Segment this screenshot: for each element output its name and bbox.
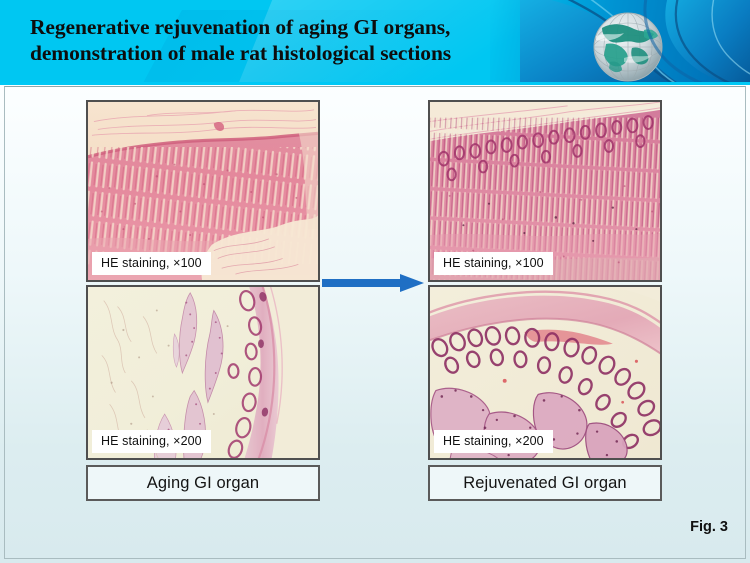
page-title-line-1: Regenerative rejuvenation of aging GI or… (30, 14, 590, 40)
slide-header: Regenerative rejuvenation of aging GI or… (0, 0, 750, 85)
histology-image-aging-x200: HE staining, ×200 (86, 285, 320, 460)
right-arrow-icon (322, 272, 426, 294)
panel-caption-text: Aging GI organ (147, 474, 259, 493)
magnification-label: HE staining, ×100 (92, 252, 211, 276)
page-title: Regenerative rejuvenation of aging GI or… (30, 14, 590, 66)
panel-caption-rejuvenated: Rejuvenated GI organ (428, 465, 662, 501)
panel-rejuvenated-gi-organ: HE staining, ×100 (428, 100, 662, 501)
page-title-line-2: demonstration of male rat histological s… (30, 40, 590, 66)
panel-caption-aging: Aging GI organ (86, 465, 320, 501)
panel-caption-text: Rejuvenated GI organ (463, 474, 626, 493)
magnification-label: HE staining, ×200 (92, 430, 211, 454)
slide-root: Regenerative rejuvenation of aging GI or… (0, 0, 750, 563)
histology-image-rejuvenated-x100: HE staining, ×100 (428, 100, 662, 282)
figure-label: Fig. 3 (690, 519, 728, 535)
histology-image-rejuvenated-x200: HE staining, ×200 (428, 285, 662, 460)
magnification-label: HE staining, ×200 (434, 430, 553, 454)
panel-aging-gi-organ: HE staining, ×100 (86, 100, 320, 501)
header-bottom-accent (0, 82, 750, 85)
histology-image-aging-x100: HE staining, ×100 (86, 100, 320, 282)
magnification-label: HE staining, ×100 (434, 252, 553, 276)
